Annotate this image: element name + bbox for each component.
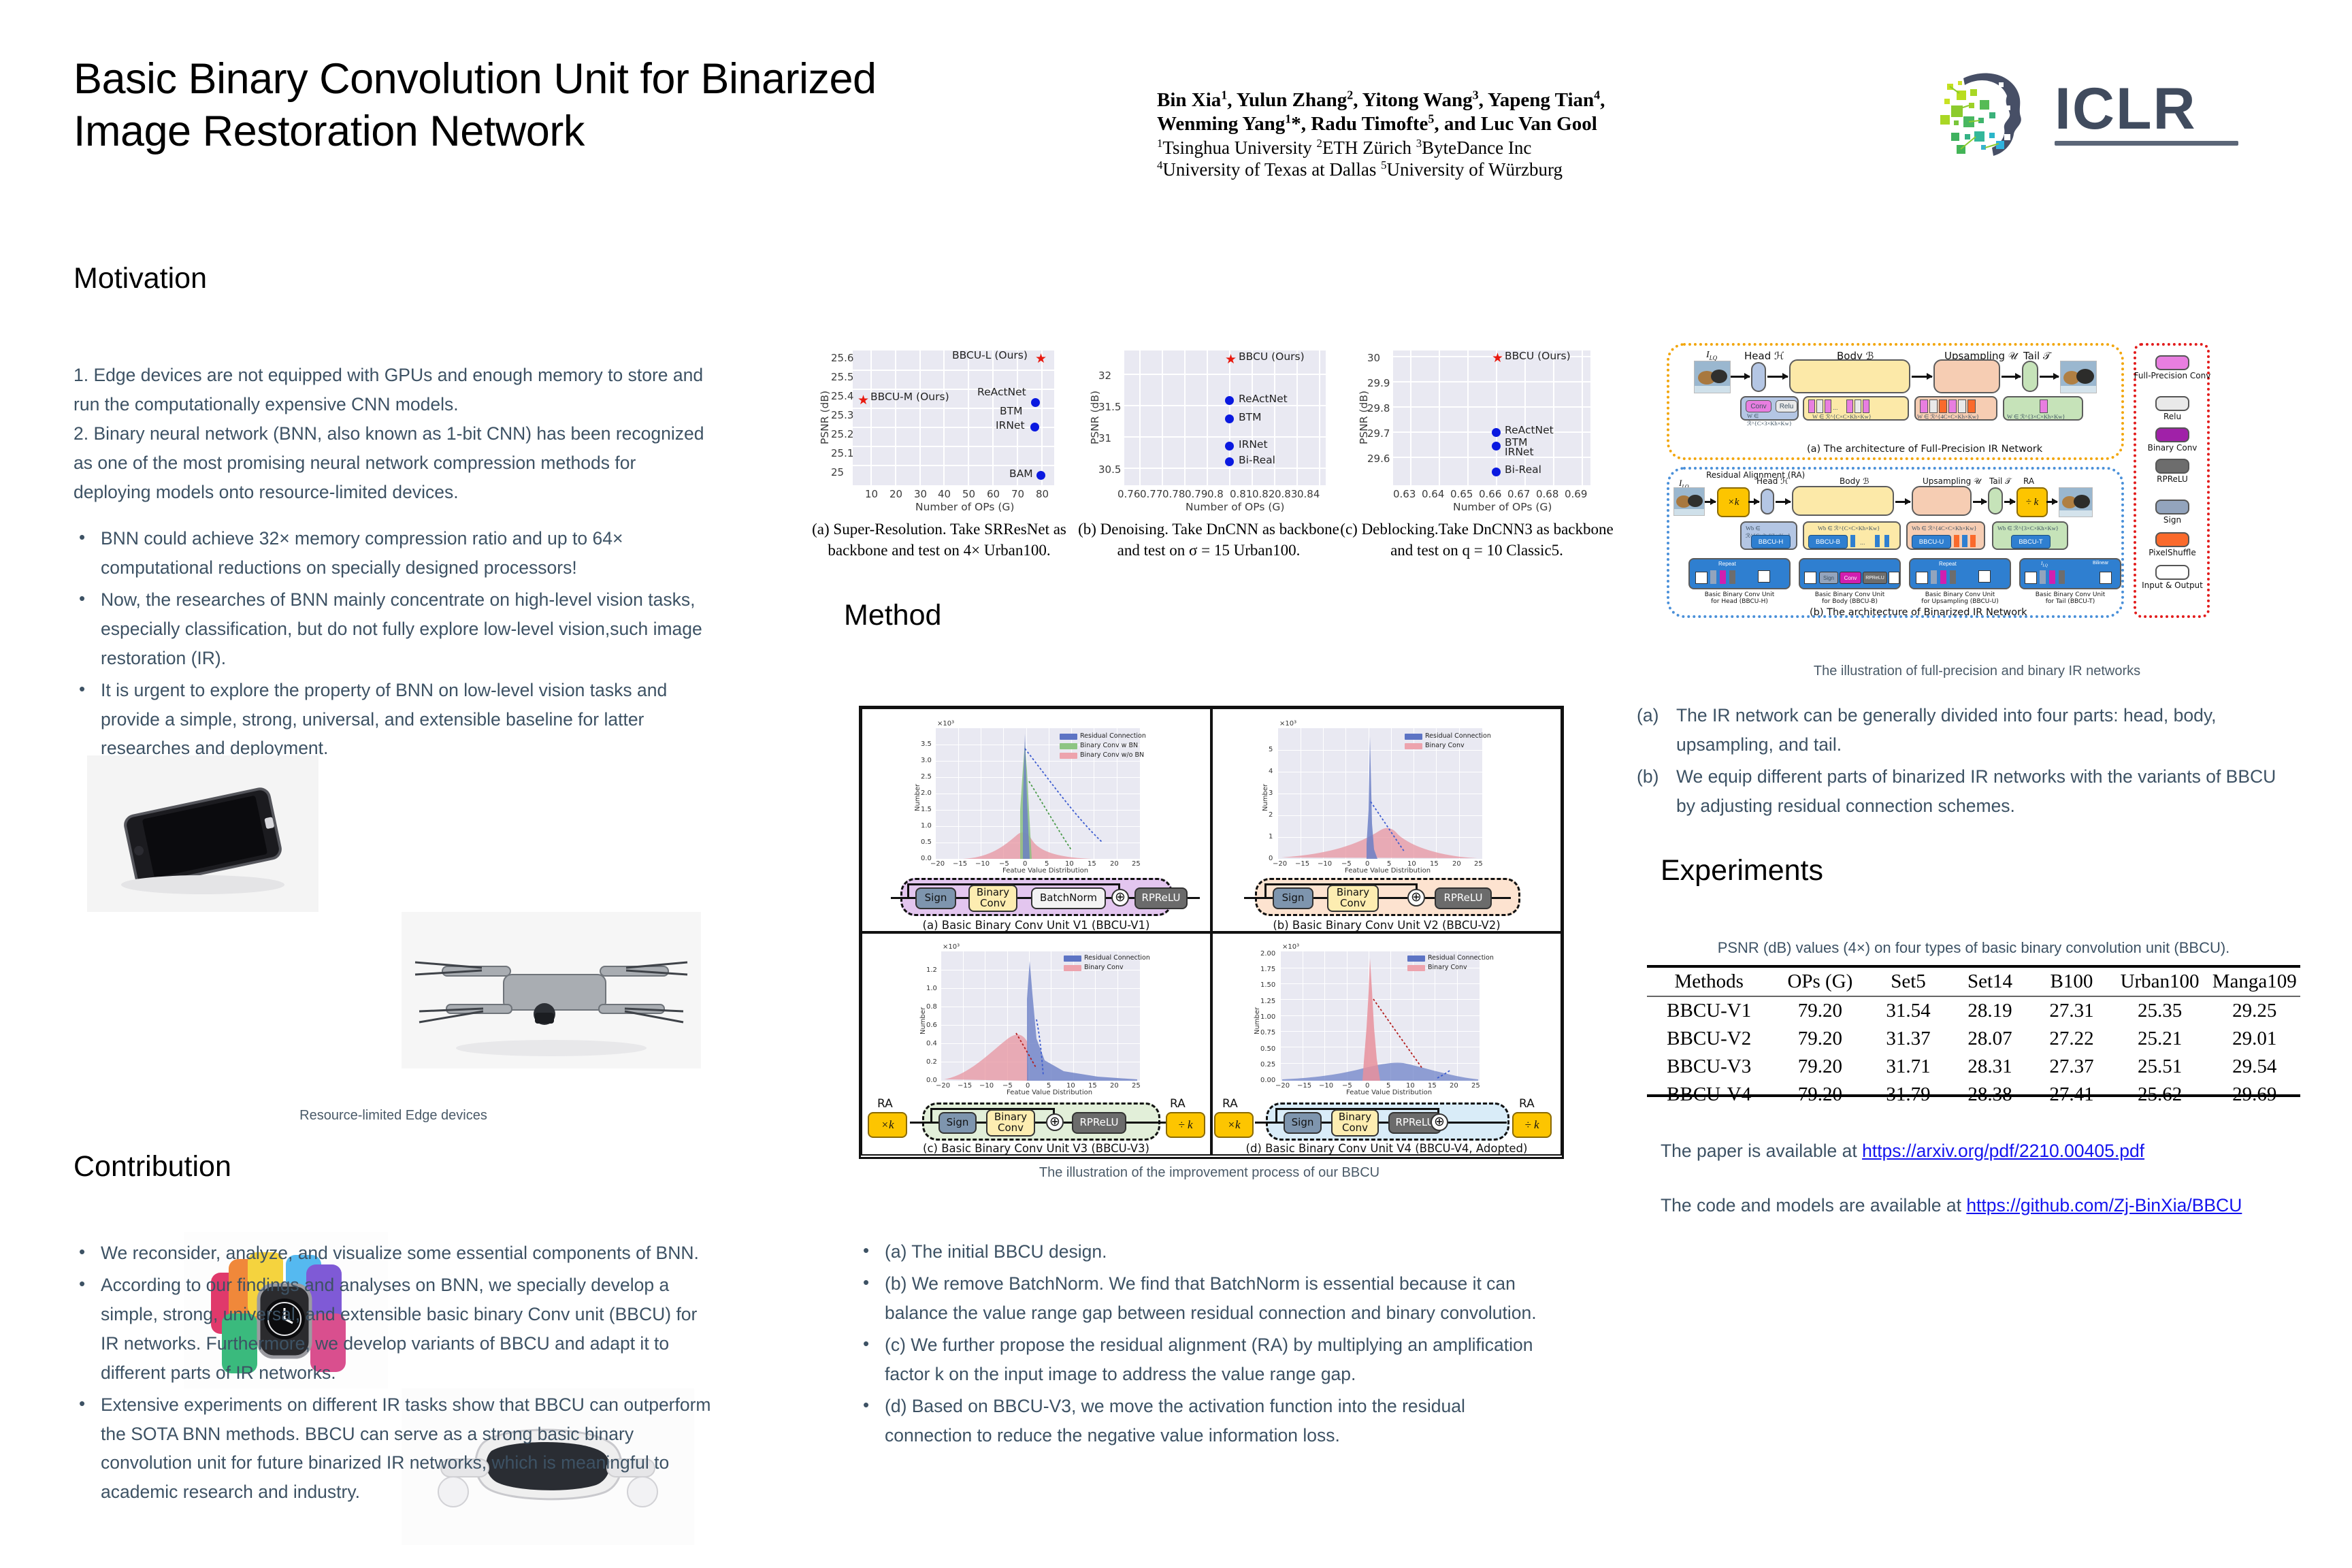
x-tick: 0.82 xyxy=(1252,488,1275,500)
y-tick: 29.6 xyxy=(1367,453,1390,465)
y-tick: 30 xyxy=(1367,352,1380,364)
y-tick: 3.0 xyxy=(921,757,932,764)
y-tick: 0.4 xyxy=(926,1040,937,1047)
bbcu-h-block: BBCU-H xyxy=(1751,535,1791,549)
stage-label-head-b: Head ℋ xyxy=(1757,476,1788,486)
legend-label: Relu xyxy=(2121,412,2223,421)
table-bbcu-psnr: Methods OPs (G) Set5 Set14 B100 Urban100… xyxy=(1647,965,2300,1109)
architecture-note-b: (b) We equip different parts of binarize… xyxy=(1637,762,2290,821)
weight-formula: W ∈ ℛ^{3×C×Kh×Kw} xyxy=(2007,413,2065,421)
y-tick: 25.2 xyxy=(831,428,853,440)
add-operator: ⊕ xyxy=(1431,1113,1448,1131)
y-axis-label: Number xyxy=(1262,784,1269,811)
tail-detail-b: Wb ∈ ℛ^{3×C×Kh×Kw} BBCU-T xyxy=(1992,521,2068,550)
body-block-b xyxy=(1792,486,1894,516)
table-row: BBCU-V2 79.20 31.37 28.07 27.22 25.21 29… xyxy=(1647,1025,2300,1053)
y-tick: 1 xyxy=(1269,833,1273,840)
sign-block: Sign xyxy=(938,1112,977,1134)
bbcu-h-caption: Basic Binary Conv Unit for Head (BBCU-H) xyxy=(1688,592,1791,606)
legend-label: Binary Conv w/o BN xyxy=(1080,751,1144,759)
legend-swatch-sign xyxy=(2155,500,2189,514)
x-tick: 15 xyxy=(1088,860,1096,868)
weight-formula: Wb ∈ ℛ^{C×C×Kh×Kw} xyxy=(1818,525,1880,532)
axis-exponent: ×10³ xyxy=(943,943,960,951)
motivation-paragraph-2: 2. Binary neural network (BNN, also know… xyxy=(73,419,713,507)
cell: 25.51 xyxy=(2111,1053,2209,1081)
ra-tag-right: RA xyxy=(1519,1097,1535,1111)
data-point-label: Bi-Real xyxy=(1505,463,1541,476)
ra-tag-left: RA xyxy=(1222,1097,1238,1111)
x-axis-label: Number of OPs (G) xyxy=(915,501,1014,513)
legend-label: Input & Output xyxy=(2121,581,2223,590)
figure-caption-c: (c) Deblocking.Take DnCNN3 as backbone a… xyxy=(1334,519,1620,561)
x-tick: −10 xyxy=(1319,1082,1333,1090)
x-axis-label: Featue Value Distribution xyxy=(1346,1089,1432,1096)
head-detail-b: Wb ∈ ℛ^{C×3×Kh×Kw} BBCU-H xyxy=(1740,521,1797,550)
x-tick: 20 xyxy=(889,488,902,500)
ra-divide-block: ÷ k xyxy=(1166,1112,1205,1138)
column-header: OPs (G) xyxy=(1771,966,1869,996)
head-block-b xyxy=(1761,489,1774,514)
ra-tag-b: RA xyxy=(2023,476,2034,486)
rprelu-block: RPReLU xyxy=(1435,887,1492,909)
list-item: BNN could achieve 32× memory compression… xyxy=(73,524,713,583)
column-header: Set5 xyxy=(1869,966,1947,996)
axis-exponent: ×10³ xyxy=(1282,943,1299,951)
weight-formula: Wb ∈ ℛ^{4C×C×Kh×Kw} xyxy=(1912,525,1977,532)
bbcu-t-block: BBCU-T xyxy=(2011,535,2051,549)
y-tick: 1.25 xyxy=(1260,998,1275,1005)
data-point-marker xyxy=(1225,457,1234,466)
data-point-label: IRNet xyxy=(1505,446,1534,458)
motivation-heading: Motivation xyxy=(73,262,207,295)
bbcu-b-detail: Sign Conv RPReLU xyxy=(1799,558,1901,589)
panel-caption: (b) Basic Binary Conv Unit V2 (BBCU-V2) xyxy=(1213,919,1561,932)
table-bottom-rule xyxy=(1647,1094,2300,1097)
cell: 28.07 xyxy=(1948,1025,2033,1053)
y-tick: 1.00 xyxy=(1260,1013,1275,1021)
axis-exponent: ×10³ xyxy=(937,720,954,728)
ra-multiply-block: ×k xyxy=(868,1112,907,1138)
iclr-logo: ICLR xyxy=(1936,65,2263,160)
data-point-marker: ★ xyxy=(1492,352,1503,365)
y-tick: 1.2 xyxy=(926,966,937,974)
column-header: Methods xyxy=(1647,966,1771,996)
cell: 27.31 xyxy=(2032,996,2110,1025)
note-tag: (a) xyxy=(1637,701,1659,730)
method-panel-d: Residual Connection Binary Conv ×10³ 0.0… xyxy=(1211,932,1562,1156)
rprelu-block: RPReLU xyxy=(1134,887,1188,909)
data-point-label: BBCU (Ours) xyxy=(1505,350,1571,362)
column-header: Manga109 xyxy=(2209,966,2300,996)
x-tick: 0.65 xyxy=(1450,488,1473,500)
axis-exponent: ×10³ xyxy=(1279,720,1296,728)
plot-area-a: ★ BBCU-L (Ours) ★ BBCU-M (Ours) ReActNet… xyxy=(853,350,1054,485)
x-axis-label: Featue Value Distribution xyxy=(1345,867,1431,875)
x-tick: 0.79 xyxy=(1185,488,1207,500)
x-tick: −10 xyxy=(1318,860,1332,868)
add-operator: ⊕ xyxy=(1407,889,1425,906)
column-header: Urban100 xyxy=(2111,966,2209,996)
bbcu-u-detail: Repeat xyxy=(1909,558,2011,589)
bbcu-h-detail: Repeat xyxy=(1688,558,1791,589)
x-axis-label: Number of OPs (G) xyxy=(1453,501,1552,513)
binary-conv-block: Binary Conv xyxy=(1327,885,1379,912)
legend-label: PixelShuffle xyxy=(2121,549,2223,557)
panel-b-caption: (b) The architecture of Binarized IR Net… xyxy=(1810,607,2027,618)
data-point-marker xyxy=(1492,442,1501,451)
legend-swatch-rprelu xyxy=(2155,459,2189,474)
upsampling-block-b xyxy=(1912,486,1972,516)
note-text: We equip different parts of binarized IR… xyxy=(1676,766,2276,816)
method-panel-c: Residual Connection Binary Conv ×10³ 0.0… xyxy=(861,932,1211,1156)
y-tick: 2.00 xyxy=(1260,950,1275,958)
legend-swatch xyxy=(1060,743,1077,749)
legend-label: Full-Precision Conv xyxy=(2121,372,2223,380)
architecture-note-a: (a) The IR network can be generally divi… xyxy=(1637,701,2290,759)
legend-swatch xyxy=(1405,743,1422,749)
histogram-c: Residual Connection Binary Conv xyxy=(941,951,1140,1081)
input-image-a xyxy=(1694,361,1731,393)
data-point-label: BAM xyxy=(1009,468,1033,480)
data-point-marker xyxy=(1225,442,1234,451)
cell: BBCU-V2 xyxy=(1647,1025,1771,1053)
list-item: (b) We remove BatchNorm. We find that Ba… xyxy=(857,1269,1552,1328)
x-tick: −10 xyxy=(979,1082,994,1090)
y-tick: 0.25 xyxy=(1260,1061,1275,1068)
poster-root: Basic Binary Convolution Unit for Binari… xyxy=(0,0,2352,1568)
column-header: B100 xyxy=(2032,966,2110,996)
x-tick: −20 xyxy=(1275,1082,1290,1090)
histogram-b: Residual Connection Binary Conv xyxy=(1278,728,1482,859)
data-point-label: BBCU-M (Ours) xyxy=(870,391,949,403)
data-point-label: ReActNet xyxy=(1505,424,1554,436)
data-point-marker: ★ xyxy=(857,394,869,407)
bbcu-u-caption: Basic Binary Conv Unit for Upsampling (B… xyxy=(1909,592,2011,606)
affiliation-line-2: 4University of Texas at Dallas 5Universi… xyxy=(1157,159,1674,180)
add-operator: ⊕ xyxy=(1046,1113,1064,1131)
iclr-wordmark: ICLR xyxy=(2055,80,2238,146)
tail-block-a xyxy=(2022,361,2038,392)
method-figure-caption: The illustration of the improvement proc… xyxy=(859,1165,1560,1181)
body-detail-b: Wb ∈ ℛ^{C×C×Kh×Kw} BBCU-B ... xyxy=(1803,521,1901,550)
x-tick: 0.68 xyxy=(1536,488,1558,500)
cell: 31.54 xyxy=(1869,996,1947,1025)
y-tick: 0.50 xyxy=(1260,1045,1275,1053)
legend-swatch-full-precision-conv xyxy=(2155,355,2189,370)
y-tick: 1.75 xyxy=(1260,966,1275,973)
column-header: Set14 xyxy=(1948,966,2033,996)
list-item: Now, the researches of BNN mainly concen… xyxy=(73,585,713,673)
cell: 31.71 xyxy=(1869,1053,1947,1081)
histogram-a: Residual Connection Binary Conv w BN Bin… xyxy=(936,728,1140,859)
add-operator: ⊕ xyxy=(1111,889,1129,906)
data-point-marker xyxy=(1492,428,1501,437)
y-tick: 25.1 xyxy=(831,447,853,459)
x-axis-label: Featue Value Distribution xyxy=(1002,867,1088,875)
y-tick: 0.2 xyxy=(926,1058,937,1066)
legend-swatch xyxy=(1064,965,1081,971)
paper-link[interactable]: https://arxiv.org/pdf/2210.00405.pdf xyxy=(1862,1141,2144,1161)
cell: 79.20 xyxy=(1771,1053,1869,1081)
data-point-marker xyxy=(1225,396,1234,405)
x-tick: 20 xyxy=(1110,860,1119,868)
weight-formula: Wb ∈ ℛ^{3×C×Kh×Kw} xyxy=(1997,525,2059,532)
plot-area-b: ★ BBCU (Ours) ReActNet BTM IRNet Bi-Real xyxy=(1124,350,1326,485)
architecture-notes: (a) The IR network can be generally divi… xyxy=(1637,701,2290,821)
authors-block: Bin Xia1, Yulun Zhang2, Yitong Wang3, Ya… xyxy=(1157,88,1674,181)
bbcu-t-caption: Basic Binary Conv Unit for Tail (BBCU-T) xyxy=(2019,592,2121,606)
y-axis-label: Number xyxy=(1254,1007,1261,1034)
data-point-label: BBCU-L (Ours) xyxy=(952,349,1028,361)
cell: 28.31 xyxy=(1948,1053,2033,1081)
legend-swatch xyxy=(1405,734,1422,740)
sign-block: Sign xyxy=(1273,887,1313,909)
x-tick: 0.81 xyxy=(1230,488,1252,500)
list-item: Extensive experiments on different IR ta… xyxy=(73,1390,720,1507)
architecture-figure: ILQ Head ℋ Body ℬ Upsampling 𝒰 Tail 𝒯 Co… xyxy=(1664,340,2290,660)
chart-denoising: ★ BBCU (Ours) ReActNet BTM IRNet Bi-Real… xyxy=(1075,344,1341,514)
title-line-2: Image Restoration Network xyxy=(73,105,1094,158)
cell: BBCU-V1 xyxy=(1647,996,1771,1025)
x-tick: 70 xyxy=(1011,488,1024,500)
y-tick: 2 xyxy=(1269,811,1273,819)
cell: 29.54 xyxy=(2209,1053,2300,1081)
binary-conv-block: Binary Conv xyxy=(986,1109,1035,1137)
list-item: (c) We further propose the residual alig… xyxy=(857,1330,1552,1389)
y-tick: 2.5 xyxy=(921,773,932,781)
x-tick: −20 xyxy=(936,1082,950,1090)
x-tick: 40 xyxy=(938,488,951,500)
stage-label-upsampling-b: Upsampling 𝒰 xyxy=(1923,476,1981,487)
contribution-bullets: We reconsider, analyze, and visualize so… xyxy=(73,1239,720,1509)
binary-conv-block: Binary Conv xyxy=(968,885,1017,912)
code-link[interactable]: https://github.com/Zj-BinXia/BBCU xyxy=(1966,1195,2242,1215)
x-tick: 0.78 xyxy=(1162,488,1185,500)
y-tick: 2.0 xyxy=(921,789,932,797)
iclr-logo-text: ICLR xyxy=(2055,80,2238,138)
y-tick: 29.8 xyxy=(1367,402,1390,414)
batchnorm-block: BatchNorm xyxy=(1031,887,1106,909)
x-tick: 0.84 xyxy=(1297,488,1320,500)
experiments-heading: Experiments xyxy=(1661,854,1823,887)
y-axis-label: Number xyxy=(919,1007,927,1034)
x-tick: 0.8 xyxy=(1207,488,1224,500)
panel-caption: (d) Basic Binary Conv Unit V4 (BBCU-V4, … xyxy=(1213,1142,1561,1155)
x-tick: −15 xyxy=(958,1082,972,1090)
x-tick: 0.64 xyxy=(1422,488,1444,500)
code-link-prefix: The code and models are available at xyxy=(1661,1195,1966,1215)
data-point-marker xyxy=(1031,398,1040,407)
x-tick: −15 xyxy=(1297,1082,1311,1090)
y-tick: 1.0 xyxy=(926,985,937,992)
legend-label: Residual Connection xyxy=(1425,732,1491,740)
x-tick: 60 xyxy=(987,488,1000,500)
x-tick: 20 xyxy=(1450,1082,1458,1090)
legend-label: Residual Connection xyxy=(1428,954,1494,962)
data-point-label: IRNet xyxy=(1239,438,1268,451)
upsampling-detail-b: Wb ∈ ℛ^{4C×C×Kh×Kw} BBCU-U xyxy=(1906,521,1985,550)
x-tick: −20 xyxy=(1273,860,1287,868)
data-point-label: BBCU (Ours) xyxy=(1239,350,1305,363)
iclr-head-icon xyxy=(1936,67,2037,157)
cell: BBCU-V3 xyxy=(1647,1053,1771,1081)
page-title: Basic Binary Convolution Unit for Binari… xyxy=(73,53,1094,158)
method-figure: Residual Connection Binary Conv w BN Bin… xyxy=(859,706,1564,1159)
input-label-a: ILQ xyxy=(1706,350,1717,361)
x-tick: 25 xyxy=(1471,1082,1480,1090)
upsampling-block-a xyxy=(1933,359,2000,393)
ra-divide-block: ÷ k xyxy=(1512,1112,1552,1138)
x-tick: 0.83 xyxy=(1275,488,1297,500)
data-point-label: ReActNet xyxy=(977,386,1026,398)
y-tick: 32 xyxy=(1098,370,1111,382)
cell: 25.21 xyxy=(2111,1025,2209,1053)
legend-swatch xyxy=(1060,734,1077,740)
x-tick: 25 xyxy=(1132,1082,1141,1090)
rprelu-block: RPReLU xyxy=(1072,1112,1126,1134)
cell: 31.37 xyxy=(1869,1025,1947,1053)
legend-label: Residual Connection xyxy=(1084,954,1150,962)
y-tick: 25.4 xyxy=(831,390,853,402)
x-tick: −15 xyxy=(1295,860,1309,868)
y-tick: 1.50 xyxy=(1260,981,1275,989)
panel-caption: (c) Basic Binary Conv Unit V3 (BBCU-V3) xyxy=(862,1142,1210,1155)
stage-label-tail-a: Tail 𝒯 xyxy=(2023,350,2051,362)
output-image-a xyxy=(2060,361,2097,393)
legend-swatch-input-output xyxy=(2155,565,2189,580)
table-row: BBCU-V3 79.20 31.71 28.31 27.37 25.51 29… xyxy=(1647,1053,2300,1081)
cell: 29.01 xyxy=(2209,1025,2300,1053)
x-tick: 0.69 xyxy=(1565,488,1587,500)
list-item: (d) Based on BBCU-V3, we move the activa… xyxy=(857,1392,1552,1450)
legend-label: RPReLU xyxy=(2121,475,2223,484)
method-bullets: (a) The initial BBCU design. (b) We remo… xyxy=(857,1237,1552,1452)
table-row: BBCU-V1 79.20 31.54 28.19 27.31 25.35 29… xyxy=(1647,996,2300,1025)
x-tick: 0.76 xyxy=(1117,488,1140,500)
head-detail-a: Conv Relu W ∈ ℛ^{C×3×Kh×Kw} xyxy=(1740,396,1799,421)
cell: 25.35 xyxy=(2111,996,2209,1025)
chart-super-resolution: ★ BBCU-L (Ours) ★ BBCU-M (Ours) ReActNet… xyxy=(806,344,1072,514)
body-detail-a: ... W ∈ ℛ^{C×C×Kh×Kw} xyxy=(1803,396,1909,421)
y-tick: 31.5 xyxy=(1098,401,1121,413)
histogram-d: Residual Connection Binary Conv xyxy=(1281,951,1480,1081)
data-point-marker: ★ xyxy=(1225,353,1237,366)
y-tick: 25.3 xyxy=(831,409,853,421)
ra-tag-right: RA xyxy=(1170,1097,1186,1111)
legend-label: Binary Conv xyxy=(1425,742,1465,749)
y-tick: 5 xyxy=(1269,746,1273,753)
y-tick: 29.7 xyxy=(1367,427,1390,440)
x-tick: 50 xyxy=(962,488,975,500)
sign-block: Sign xyxy=(1284,1112,1322,1134)
contribution-heading: Contribution xyxy=(73,1150,231,1183)
y-tick: 30.5 xyxy=(1098,463,1121,476)
data-point-marker xyxy=(1036,471,1045,480)
y-tick: 25 xyxy=(831,466,844,478)
x-tick: −10 xyxy=(975,860,990,868)
x-axis-label: Featue Value Distribution xyxy=(1007,1089,1092,1096)
legend-label: Binary Conv xyxy=(2121,444,2223,453)
y-tick: 1.5 xyxy=(921,806,932,813)
y-tick: 29.9 xyxy=(1367,377,1390,389)
weight-formula: W ∈ ℛ^{C×C×Kh×Kw} xyxy=(1812,413,1872,421)
data-point-label: BTM xyxy=(1239,411,1261,423)
plot-area-c: ★ BBCU (Ours) ReActNet BTM IRNet Bi-Real xyxy=(1393,350,1590,485)
affiliation-line-1: 1Tsinghua University 2ETH Zürich 3ByteDa… xyxy=(1157,137,1674,159)
x-tick: 15 xyxy=(1430,860,1439,868)
ra-tag-left: RA xyxy=(877,1097,893,1111)
panel-a-caption: (a) The architecture of Full-Precision I… xyxy=(1807,444,2042,455)
cell: 27.37 xyxy=(2032,1053,2110,1081)
code-link-line: The code and models are available at htt… xyxy=(1661,1191,2341,1220)
note-text: The IR network can be generally divided … xyxy=(1676,705,2217,755)
y-tick: 0.6 xyxy=(926,1022,937,1029)
paper-link-line: The paper is available at https://arxiv.… xyxy=(1661,1137,2327,1166)
head-block-a xyxy=(1751,362,1766,392)
y-axis-label: PSNR (dB) xyxy=(1089,391,1101,444)
x-tick: 30 xyxy=(914,488,927,500)
paper-link-prefix: The paper is available at xyxy=(1661,1141,1862,1161)
list-item: According to our findings and analyses o… xyxy=(73,1271,720,1388)
photo-caption: Resource-limited Edge devices xyxy=(87,1108,700,1124)
stage-label-head-a: Head ℋ xyxy=(1744,350,1784,362)
y-tick: 3.5 xyxy=(921,740,932,748)
list-item: We reconsider, analyze, and visualize so… xyxy=(73,1239,720,1268)
conv-block-label: Conv xyxy=(1746,400,1771,412)
x-tick: 25 xyxy=(1474,860,1483,868)
method-panel-a: Residual Connection Binary Conv w BN Bin… xyxy=(861,708,1211,932)
x-tick: 20 xyxy=(1452,860,1461,868)
data-point-marker xyxy=(1225,414,1234,423)
legend-swatch-relu xyxy=(2155,396,2189,411)
x-tick: 25 xyxy=(1132,860,1141,868)
x-tick: −20 xyxy=(930,860,945,868)
cell: 29.25 xyxy=(2209,996,2300,1025)
weight-formula: W ∈ ℛ^{C×3×Kh×Kw} xyxy=(1747,412,1797,427)
legend-swatch-binary-conv xyxy=(2155,427,2189,442)
binary-conv-block: Binary Conv xyxy=(1331,1109,1379,1137)
legend-swatch xyxy=(1064,955,1081,962)
cell: 28.19 xyxy=(1948,996,2033,1025)
smartphone-photo xyxy=(87,755,318,912)
x-tick: 0.77 xyxy=(1140,488,1162,500)
stage-label-tail-b: Tail 𝒯 xyxy=(1989,476,2011,487)
author-line-1: Bin Xia1, Yulun Zhang2, Yitong Wang3, Ya… xyxy=(1157,88,1674,112)
legend-swatch xyxy=(1407,965,1425,971)
y-tick: 0.00 xyxy=(1260,1077,1275,1084)
legend-label: Binary Conv xyxy=(1084,964,1124,971)
y-tick: 25.6 xyxy=(831,352,853,364)
bbcu-u-block: BBCU-U xyxy=(1912,535,1951,549)
ra-multiply-block-b: ×k xyxy=(1717,487,1750,517)
method-panel-b: Residual Connection Binary Conv ×10³ 0 1… xyxy=(1211,708,1562,932)
chart-deblocking: ★ BBCU (Ours) ReActNet BTM IRNet Bi-Real… xyxy=(1344,344,1616,514)
y-axis-label: PSNR (dB) xyxy=(1358,391,1370,444)
list-item: It is urgent to explore the property of … xyxy=(73,676,713,764)
bbcu-b-block: BBCU-B xyxy=(1808,535,1848,549)
tail-block-b xyxy=(1988,487,2003,514)
y-tick: 4 xyxy=(1269,768,1273,775)
legend-swatch xyxy=(1060,753,1077,759)
output-image-b xyxy=(2059,487,2093,517)
y-tick: 0.75 xyxy=(1260,1029,1275,1036)
y-axis-label: PSNR (dB) xyxy=(819,391,831,444)
author-line-2: Wenming Yang1*, Radu Timofte5, and Luc V… xyxy=(1157,112,1674,136)
cell: 27.22 xyxy=(2032,1025,2110,1053)
x-tick: 10 xyxy=(865,488,878,500)
motivation-bullets: BNN could achieve 32× memory compression… xyxy=(73,524,713,766)
